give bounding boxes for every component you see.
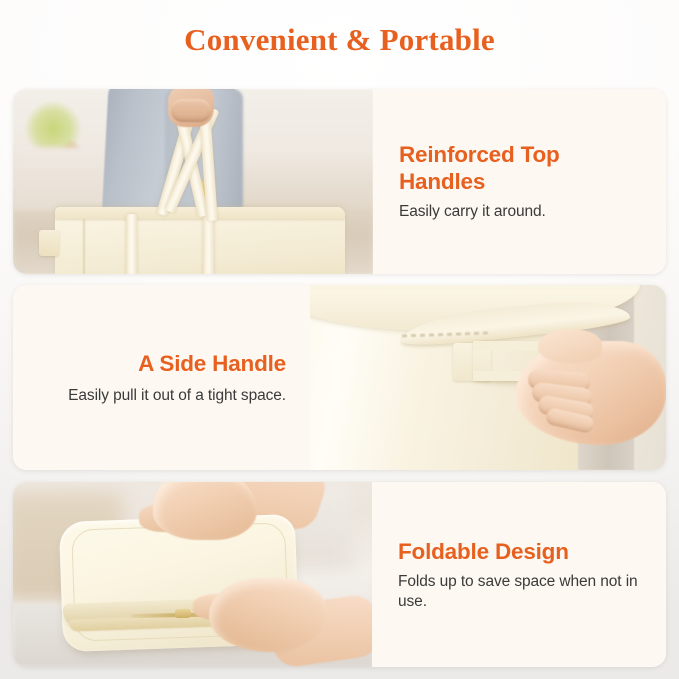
feature-panel-a-side-handle: A Side Handle Easily pull it out of a ti… [13, 285, 666, 470]
hand-thumb [538, 329, 602, 363]
feature-image-reinforced-top-handles [13, 89, 373, 274]
upper-hand [153, 482, 257, 540]
feature-title: Reinforced Top Handles [399, 141, 644, 195]
feature-title: A Side Handle [35, 350, 286, 377]
feature-text-reinforced-top-handles: Reinforced Top Handles Easily carry it a… [373, 89, 666, 274]
page-title: Convenient & Portable [0, 22, 679, 58]
feature-image-a-side-handle [310, 285, 666, 470]
feature-description: Easily carry it around. [399, 202, 644, 222]
folded-bag-zipper-pull [175, 609, 191, 619]
feature-panel-foldable-design: Foldable Design Folds up to save space w… [13, 482, 666, 667]
lower-hand [209, 578, 327, 652]
feature-title: Foldable Design [398, 538, 644, 565]
storage-bag-side-tab [39, 230, 59, 256]
feature-text-foldable-design: Foldable Design Folds up to save space w… [372, 482, 666, 667]
person-fingers [171, 99, 211, 122]
storage-bag-seam [83, 219, 85, 274]
feature-panel-reinforced-top-handles: Reinforced Top Handles Easily carry it a… [13, 89, 666, 274]
feature-text-a-side-handle: A Side Handle Easily pull it out of a ti… [13, 285, 310, 470]
feature-description: Folds up to save space when not in use. [398, 572, 644, 612]
feature-image-foldable-design [13, 482, 372, 667]
feature-description: Easily pull it out of a tight space. [35, 386, 286, 406]
top-handle-strap-right-lower [203, 214, 214, 274]
top-handle-strap-left-lower [126, 214, 137, 274]
